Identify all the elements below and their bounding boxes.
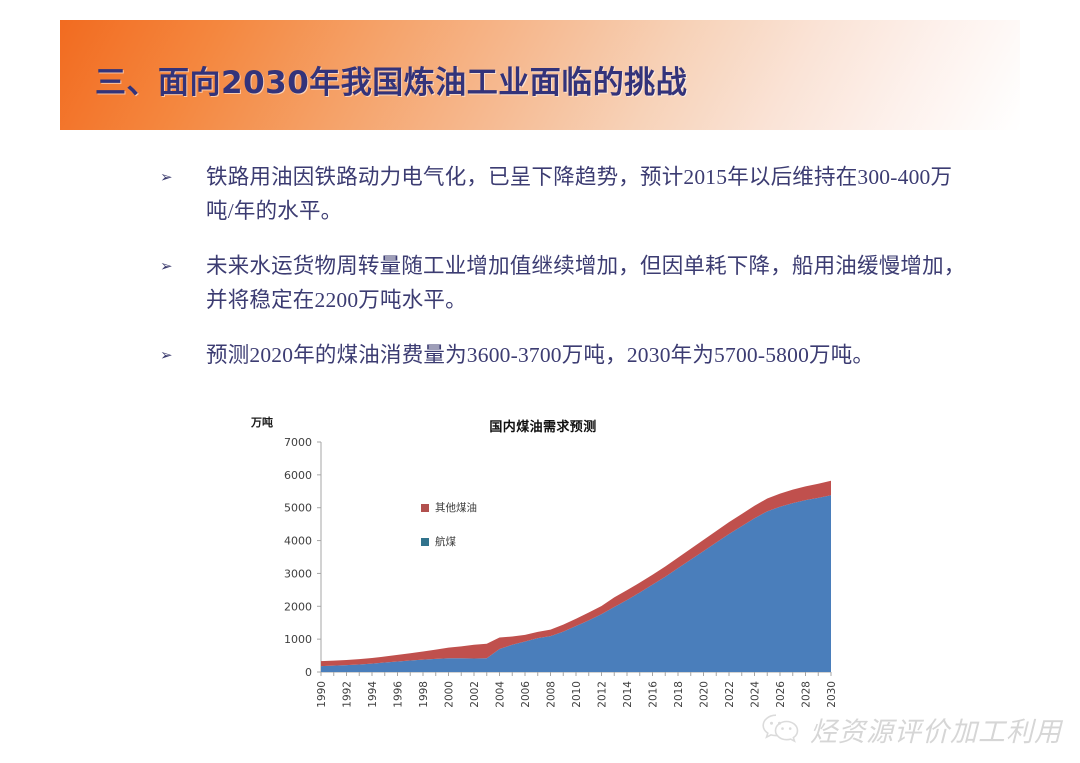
svg-text:4000: 4000 xyxy=(284,535,312,548)
list-item: ➢ 未来水运货物周转量随工业增加值继续增加，但因单耗下降，船用油缓慢增加，并将稳… xyxy=(148,249,978,317)
bullet-text: 铁路用油因铁路动力电气化，已呈下降趋势，预计2015年以后维持在300-400万… xyxy=(206,160,978,228)
svg-text:0: 0 xyxy=(305,666,312,679)
svg-text:2026: 2026 xyxy=(775,681,787,708)
bullet-list: ➢ 铁路用油因铁路动力电气化，已呈下降趋势，预计2015年以后维持在300-40… xyxy=(148,160,978,393)
svg-text:2012: 2012 xyxy=(597,681,609,708)
watermark-text: 烃资源评价加工利用 xyxy=(810,710,1062,749)
list-item: ➢ 铁路用油因铁路动力电气化，已呈下降趋势，预计2015年以后维持在300-40… xyxy=(148,160,978,228)
svg-text:1990: 1990 xyxy=(316,681,328,708)
bullet-text: 预测2020年的煤油消费量为3600-3700万吨，2030年为5700-580… xyxy=(206,338,978,372)
svg-text:7000: 7000 xyxy=(284,436,312,449)
svg-text:2014: 2014 xyxy=(622,681,634,708)
legend-item-other-kerosene: 其他煤油 xyxy=(421,500,477,515)
svg-text:2004: 2004 xyxy=(495,681,507,708)
kerosene-demand-chart: 万吨 国内煤油需求预测 0100020003000400050006000700… xyxy=(243,404,843,734)
legend-label: 其他煤油 xyxy=(435,500,477,515)
svg-text:1992: 1992 xyxy=(342,681,354,708)
svg-text:2006: 2006 xyxy=(520,681,532,708)
svg-text:2028: 2028 xyxy=(801,681,813,708)
svg-text:1998: 1998 xyxy=(418,681,430,708)
chart-legend: 其他煤油 航煤 xyxy=(421,500,477,568)
chart-plot-area: 0100020003000400050006000700019901992199… xyxy=(243,404,843,734)
legend-swatch-icon xyxy=(421,538,429,546)
page-title: 三、面向2030年我国炼油工业面临的挑战 xyxy=(95,57,687,102)
svg-text:2000: 2000 xyxy=(284,600,312,613)
svg-text:2002: 2002 xyxy=(469,681,481,708)
bullet-arrow-icon: ➢ xyxy=(148,338,206,372)
svg-text:2010: 2010 xyxy=(571,681,583,708)
bullet-arrow-icon: ➢ xyxy=(148,249,206,283)
legend-item-jet-fuel: 航煤 xyxy=(421,534,477,549)
legend-label: 航煤 xyxy=(435,534,456,549)
watermark: 烃资源评价加工利用 xyxy=(760,710,1062,749)
svg-text:1996: 1996 xyxy=(393,681,405,708)
svg-text:5000: 5000 xyxy=(284,502,312,515)
svg-text:2024: 2024 xyxy=(750,681,762,708)
bullet-text: 未来水运货物周转量随工业增加值继续增加，但因单耗下降，船用油缓慢增加，并将稳定在… xyxy=(206,249,978,317)
svg-text:2022: 2022 xyxy=(724,681,736,708)
svg-text:2018: 2018 xyxy=(673,681,685,708)
svg-text:2020: 2020 xyxy=(699,681,711,708)
svg-text:2016: 2016 xyxy=(648,681,660,708)
wechat-logo-icon xyxy=(760,711,802,748)
svg-text:2030: 2030 xyxy=(826,681,838,708)
svg-text:3000: 3000 xyxy=(284,567,312,580)
svg-text:2008: 2008 xyxy=(546,681,558,708)
slide-root: 三、面向2030年我国炼油工业面临的挑战 ➢ 铁路用油因铁路动力电气化，已呈下降… xyxy=(0,0,1080,763)
legend-swatch-icon xyxy=(421,504,429,512)
list-item: ➢ 预测2020年的煤油消费量为3600-3700万吨，2030年为5700-5… xyxy=(148,338,978,372)
bullet-arrow-icon: ➢ xyxy=(148,160,206,194)
svg-text:2000: 2000 xyxy=(444,681,456,708)
svg-text:1994: 1994 xyxy=(367,681,379,708)
svg-text:1000: 1000 xyxy=(284,633,312,646)
svg-text:6000: 6000 xyxy=(284,469,312,482)
